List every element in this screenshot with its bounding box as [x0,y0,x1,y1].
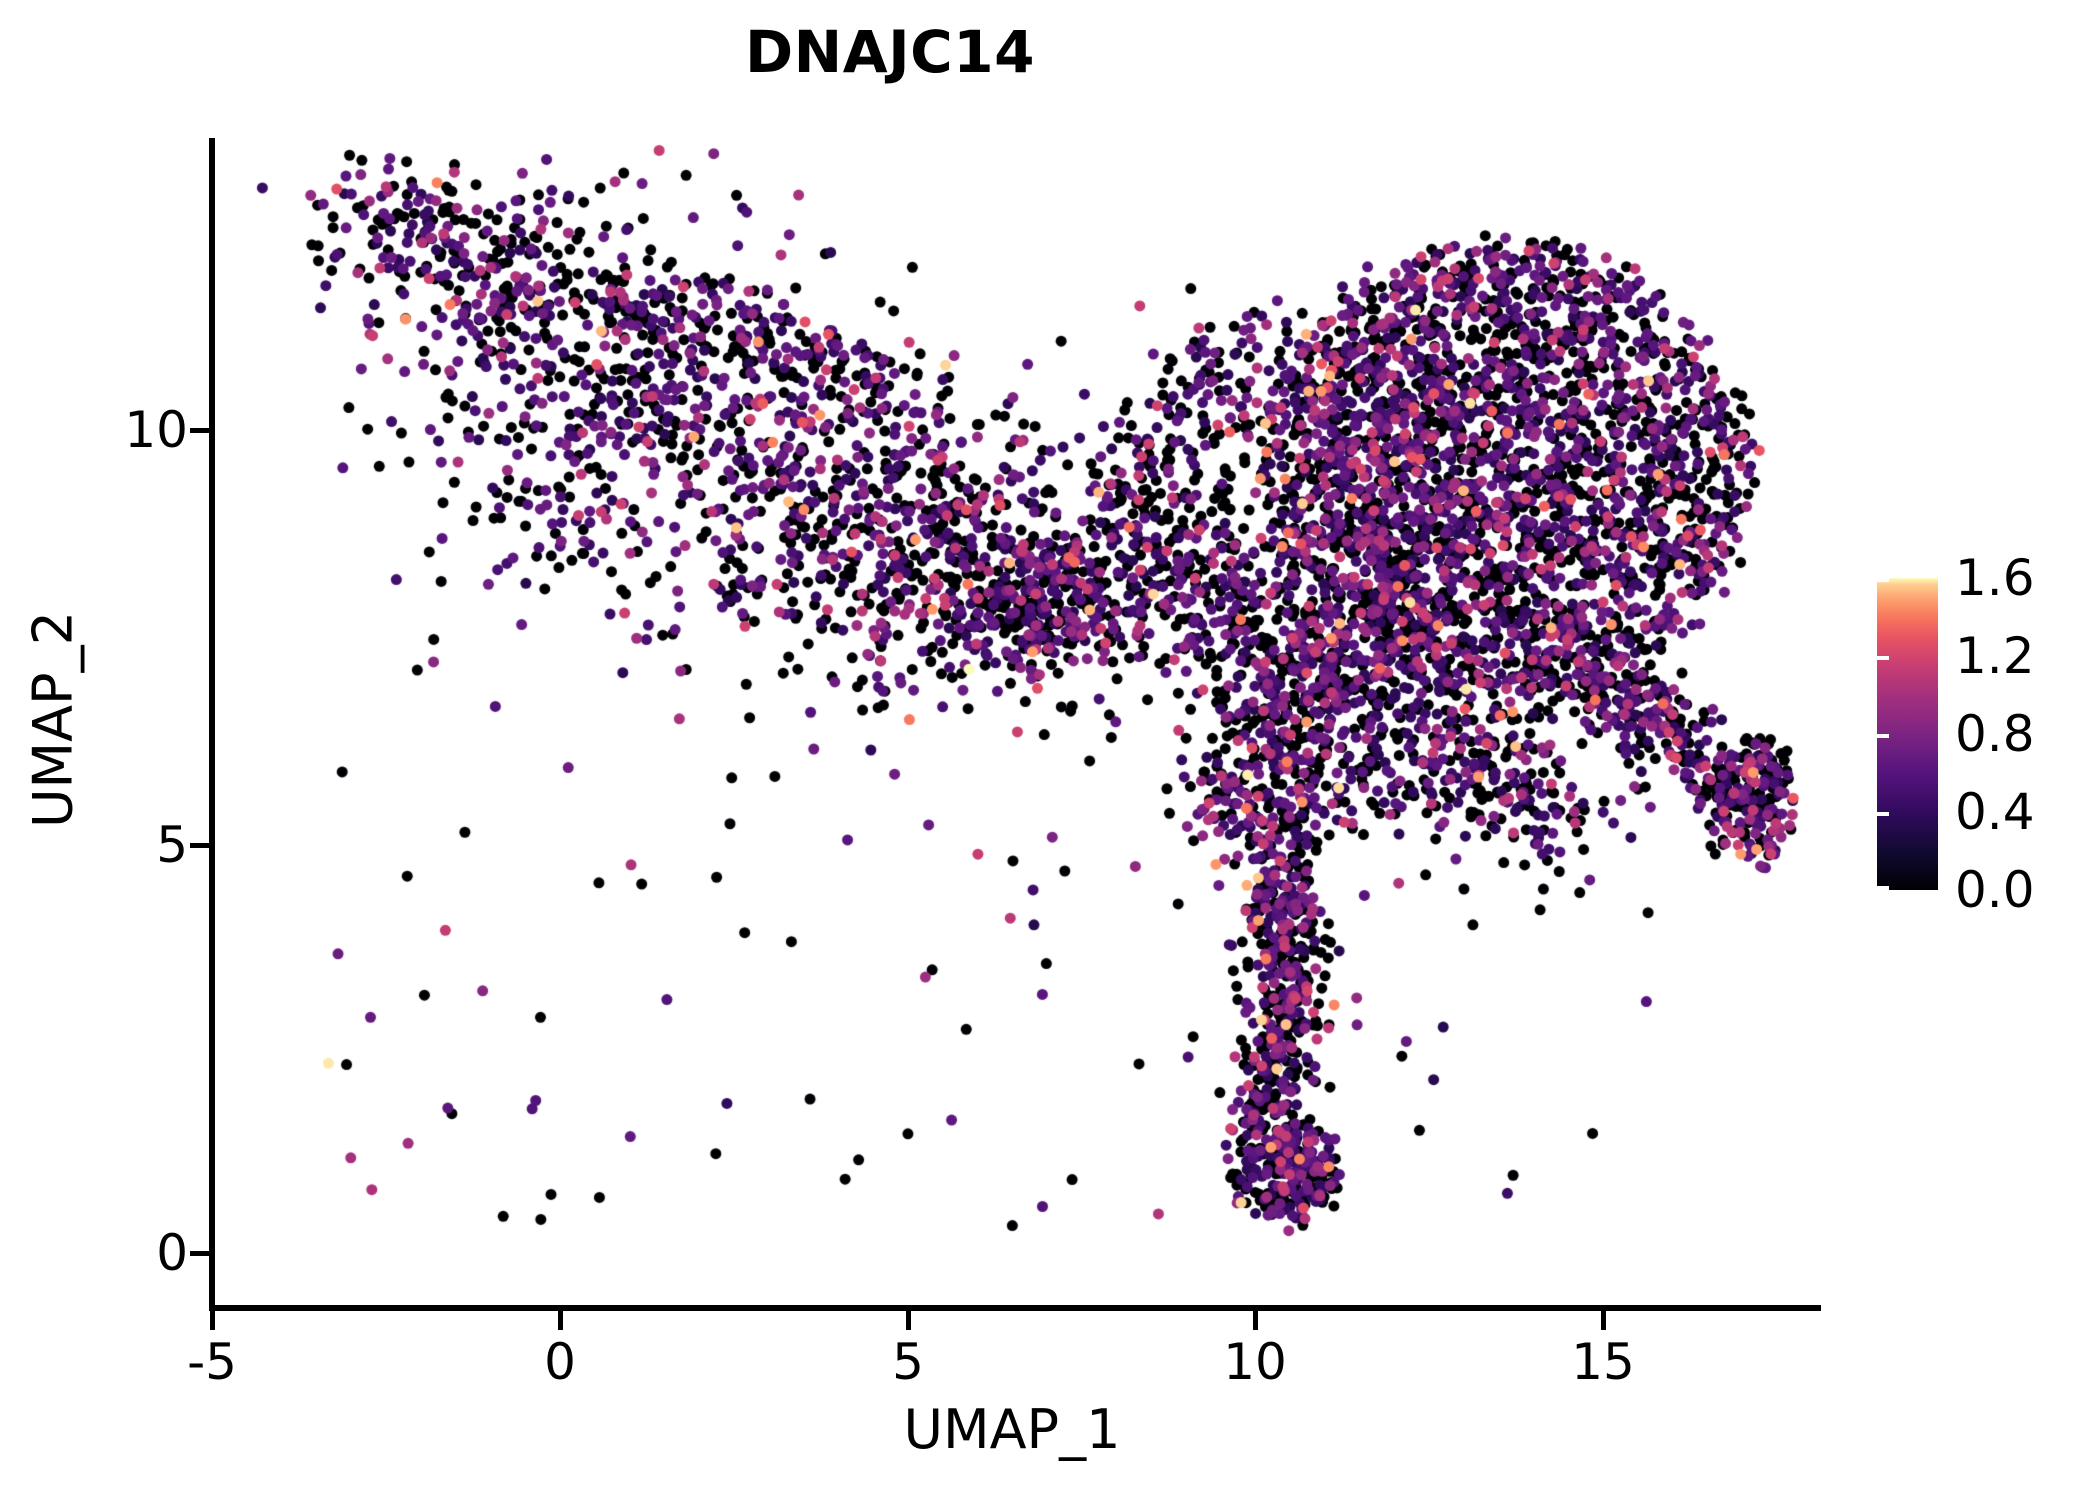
feature-plot-figure: DNAJC14 UMAP_1 UMAP_2 0.00.40.81.21.6 -5… [0,0,2100,1500]
y-axis-spine [209,138,215,1310]
x-tick-label: -5 [187,1333,237,1391]
colorbar-tick-mark [1877,812,1889,816]
y-tick-label: 0 [156,1224,188,1282]
colorbar-tick-mark [2065,886,2077,890]
colorbar-tick-label: 0.8 [1955,705,2035,763]
colorbar-legend: 0.00.40.81.21.6 [1877,578,2077,898]
colorbar-tick-mark [2065,812,2077,816]
colorbar-tick-mark [1877,734,1889,738]
y-tick-label: 5 [156,816,188,874]
colorbar-tick-label: 0.0 [1955,861,2035,919]
y-tick-mark [190,428,209,433]
x-tick-mark [1601,1311,1606,1330]
y-axis-label: UMAP_2 [22,135,85,1305]
x-tick-label: 0 [544,1333,576,1391]
colorbar-tick-mark [1877,656,1889,660]
y-tick-mark [190,843,209,848]
x-tick-label: 15 [1571,1333,1635,1391]
scatter-plot-area [212,138,1812,1308]
colorbar-tick-mark [2065,578,2077,582]
y-tick-label: 10 [124,401,188,459]
page-title: DNAJC14 [0,18,1780,86]
x-tick-label: 10 [1223,1333,1287,1391]
x-tick-mark [1253,1311,1258,1330]
colorbar-tick-mark [1877,886,1889,890]
colorbar-tick-label: 1.2 [1955,627,2035,685]
x-tick-mark [210,1311,215,1330]
colorbar-tick-mark [2065,734,2077,738]
x-tick-mark [906,1311,911,1330]
colorbar-tick-label: 1.6 [1955,549,2035,607]
x-tick-mark [558,1311,563,1330]
y-tick-mark [190,1251,209,1256]
colorbar-tick-mark [1877,578,1889,582]
colorbar-tick-label: 0.4 [1955,783,2035,841]
x-tick-label: 5 [892,1333,924,1391]
x-axis-label: UMAP_1 [212,1398,1812,1461]
x-axis-spine [209,1305,1821,1311]
umap-scatter-canvas [212,138,1812,1308]
colorbar-tick-mark [2065,656,2077,660]
